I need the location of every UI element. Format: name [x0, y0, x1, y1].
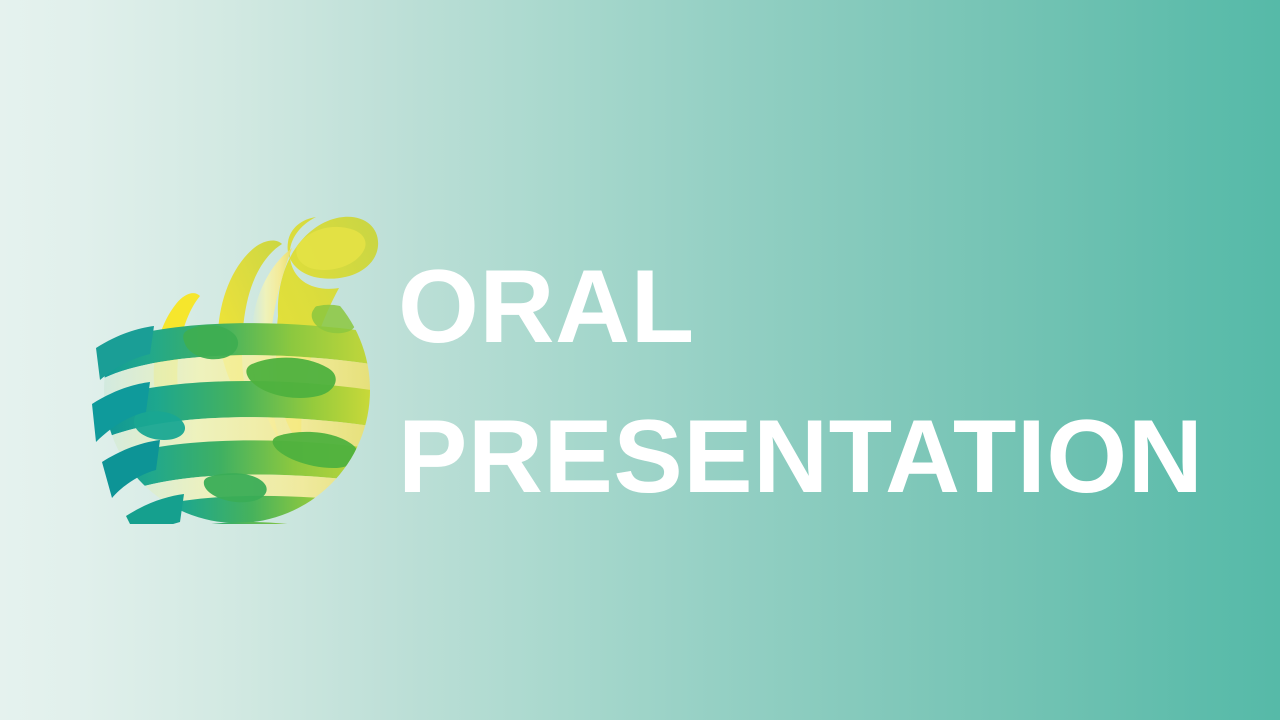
ribbon-tip-4: [126, 494, 184, 524]
presentation-slide: ORAL PRESENTATION: [0, 0, 1280, 720]
slide-headline: ORAL PRESENTATION: [398, 232, 1218, 532]
headline-line-2: PRESENTATION: [398, 382, 1218, 532]
headline-line-1: ORAL: [398, 232, 1218, 382]
globe-ribbon-logo: [92, 198, 382, 524]
